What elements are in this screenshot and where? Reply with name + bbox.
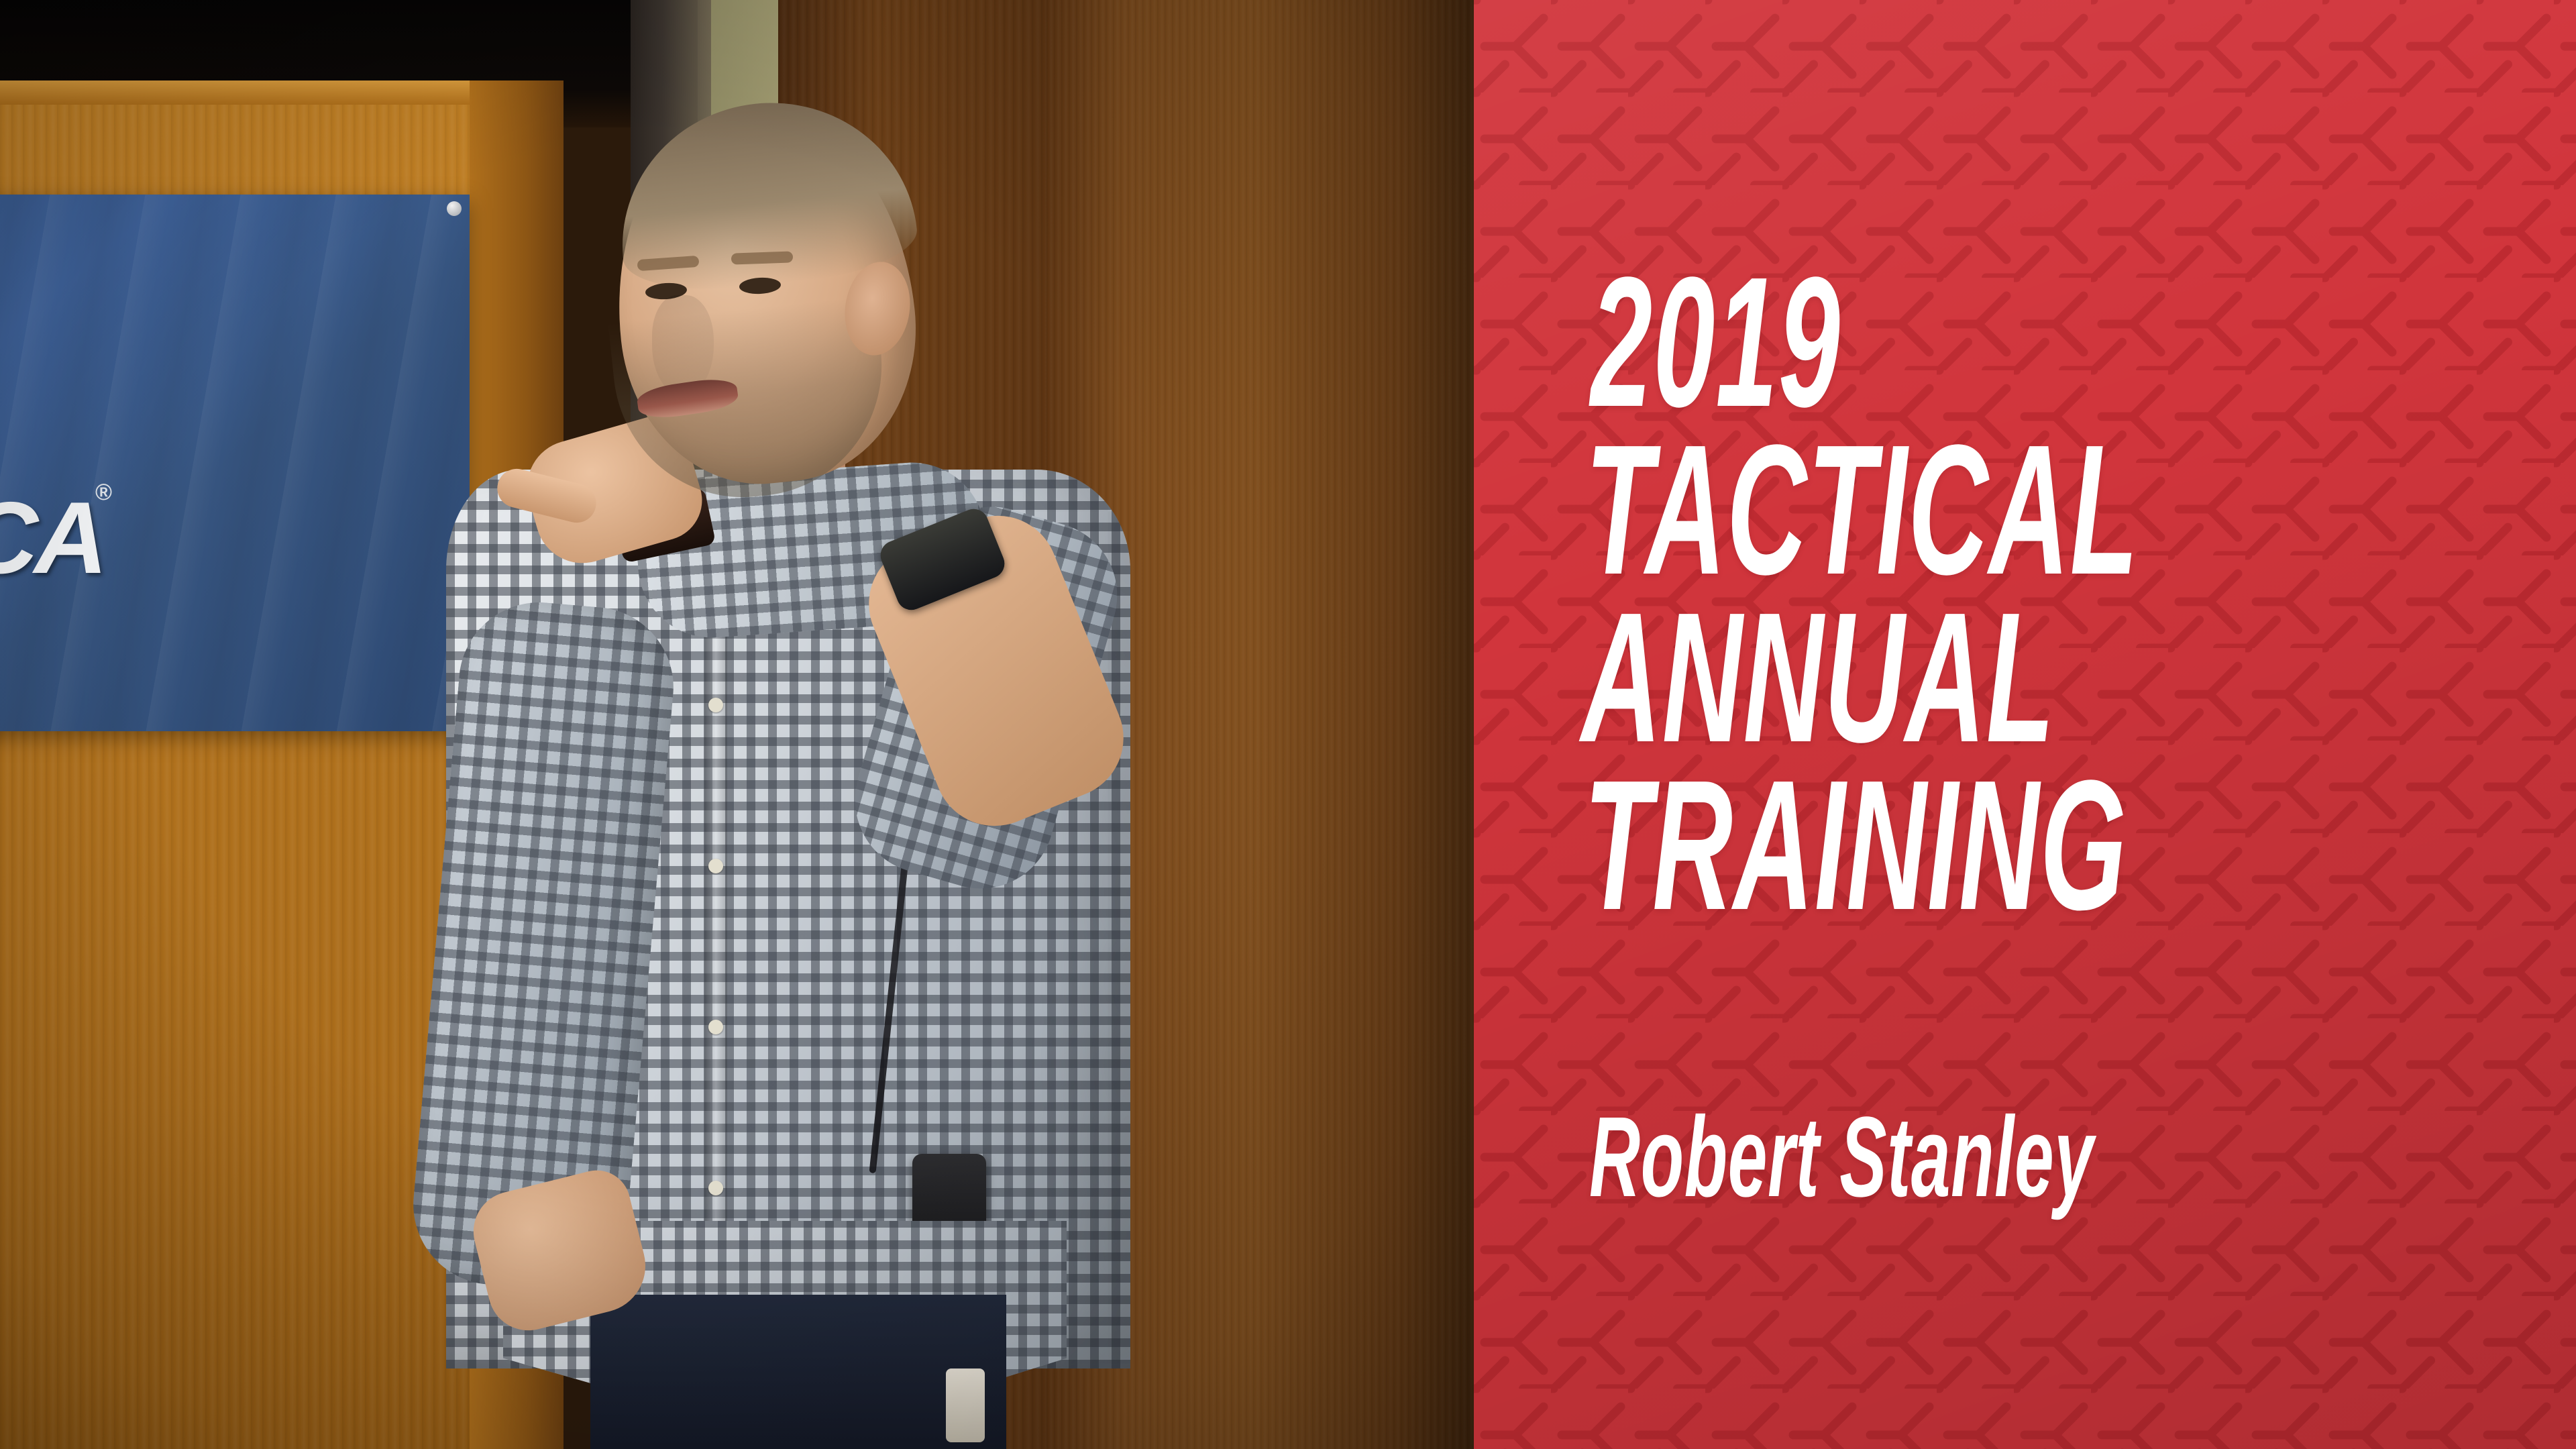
speaker-name: Robert Stanley bbox=[1589, 1100, 2094, 1214]
title-copy-block: 2019 TACTICAL ANNUAL TRAINING Robert Sta… bbox=[1581, 0, 2561, 1449]
shirt-button bbox=[708, 698, 723, 712]
speaker-figure bbox=[416, 94, 1207, 1449]
shirt-button bbox=[708, 859, 723, 873]
title-panel: 2019 TACTICAL ANNUAL TRAINING Robert Sta… bbox=[1474, 0, 2576, 1449]
nsca-wordmark: NSCA bbox=[0, 480, 104, 597]
speaker-photo: NSCA ® bbox=[0, 0, 1474, 1449]
title-slide: NSCA ® bbox=[0, 0, 2576, 1449]
shirt-button bbox=[708, 1181, 723, 1195]
banner-fabric-folds bbox=[0, 195, 470, 731]
nsca-banner: NSCA ® bbox=[0, 195, 470, 731]
shirt-button bbox=[708, 1020, 723, 1034]
headline-line-year: 2019 bbox=[1591, 268, 1841, 417]
registered-trademark-icon: ® bbox=[95, 480, 112, 506]
eyebrow-right bbox=[731, 251, 794, 264]
headline-line-annual: ANNUAL bbox=[1581, 604, 2055, 752]
pocket-item bbox=[946, 1368, 985, 1442]
headline-line-tactical: TACTICAL bbox=[1585, 436, 2139, 584]
jeans bbox=[590, 1295, 1006, 1449]
headline-line-training: TRAINING bbox=[1584, 771, 2127, 920]
